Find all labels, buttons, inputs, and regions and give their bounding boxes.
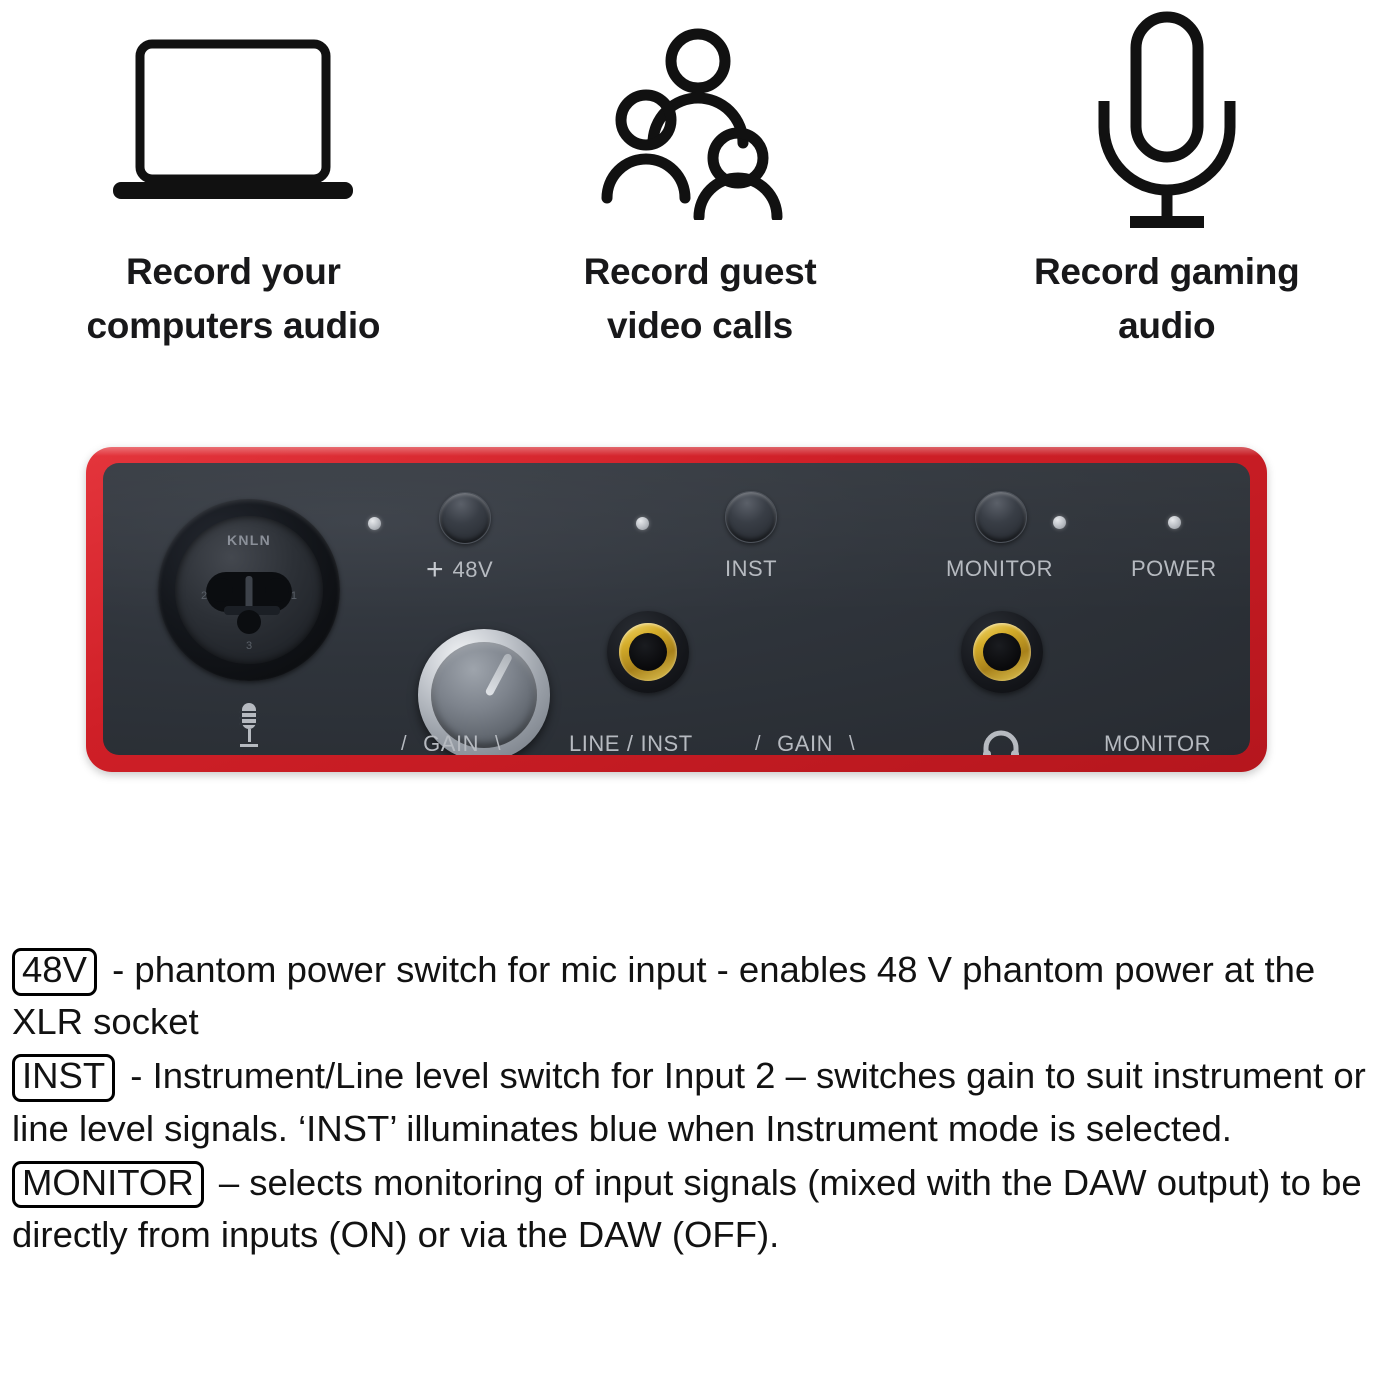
feature-caption-line1: Record guest xyxy=(584,245,817,299)
feature-record-guest-video-calls: Record guest video calls xyxy=(467,0,934,352)
microphone-icon xyxy=(1074,0,1259,245)
line-inst-separator: / xyxy=(627,731,634,755)
headphone-jack-gold-ring xyxy=(973,623,1031,681)
headphone-output-jack[interactable] xyxy=(961,611,1043,693)
line-inst-jack-gold-ring xyxy=(619,623,677,681)
gain2-label: GAIN xyxy=(777,731,833,755)
gain1-label: GAIN xyxy=(423,731,479,755)
line-inst-jack-hole xyxy=(629,633,667,671)
feature-caption-line2: computers audio xyxy=(87,299,381,353)
gain1-label-group: / GAIN \ xyxy=(401,731,501,755)
gain1-tick-left: / xyxy=(401,733,407,756)
feature-caption-line2: audio xyxy=(1034,299,1299,353)
inst-label: INST xyxy=(725,556,777,582)
mic-rib xyxy=(239,723,259,725)
line-inst-label-group: LINE / INST xyxy=(569,731,693,755)
led-indicator-power xyxy=(1168,516,1181,529)
tag-48v: 48V xyxy=(12,948,97,996)
description-text-inst: - Instrument/Line level switch for Input… xyxy=(12,1055,1366,1148)
phantom-power-48v-button[interactable] xyxy=(439,492,491,544)
description-item-monitor: MONITOR – selects monitoring of input si… xyxy=(12,1157,1388,1261)
mic-base xyxy=(240,744,258,747)
feature-row: Record your computers audio Record guest… xyxy=(0,0,1400,430)
feature-caption: Record gaming audio xyxy=(1034,245,1299,352)
monitor-switch-button[interactable] xyxy=(975,491,1027,543)
mic-rib xyxy=(239,711,259,713)
headphone-icon xyxy=(980,728,1022,755)
feature-caption-line1: Record gaming xyxy=(1034,245,1299,299)
description-item-inst: INST - Instrument/Line level switch for … xyxy=(12,1050,1388,1154)
feature-caption: Record your computers audio xyxy=(87,245,381,352)
people-group-icon xyxy=(593,0,808,245)
mic-capsule xyxy=(242,703,256,729)
xlr-combo-input-jack[interactable]: KNLN 1 2 3 xyxy=(158,499,340,681)
line-label: LINE xyxy=(569,731,620,755)
mic-rib xyxy=(239,717,259,719)
power-label: POWER xyxy=(1131,556,1217,582)
xlr-pin-1 xyxy=(209,578,233,602)
feature-record-gaming-audio: Record gaming audio xyxy=(933,0,1400,352)
monitor-button-label: MONITOR xyxy=(946,556,1053,582)
feature-description-list: 48V - phantom power switch for mic input… xyxy=(12,944,1388,1263)
device-front-panel: KNLN 1 2 3 xyxy=(103,463,1250,755)
xlr-pin-2 xyxy=(265,578,289,602)
description-text-48v: - phantom power switch for mic input - e… xyxy=(12,949,1315,1042)
phantom-power-label: 48V xyxy=(453,557,494,583)
xlr-pin-core xyxy=(203,556,295,638)
gain-knob-input1-pointer xyxy=(484,653,513,697)
description-text-monitor: – selects monitoring of input signals (m… xyxy=(12,1162,1362,1255)
tag-inst: INST xyxy=(12,1054,115,1102)
feature-caption: Record guest video calls xyxy=(584,245,817,352)
gain1-tick-right: \ xyxy=(495,733,501,756)
plus-icon: + xyxy=(426,555,444,585)
microphone-input-icon xyxy=(237,703,261,747)
led-indicator-input2 xyxy=(636,517,649,530)
xlr-pin-number-3: 3 xyxy=(246,640,252,652)
laptop-icon xyxy=(103,0,363,245)
gain2-tick-left: / xyxy=(755,733,761,756)
audio-interface-device: KNLN 1 2 3 xyxy=(86,447,1267,772)
xlr-pin-3 xyxy=(237,610,261,634)
xlr-brand-label: KNLN xyxy=(175,532,323,548)
tag-monitor: MONITOR xyxy=(12,1161,204,1209)
xlr-pin-number-1: 1 xyxy=(291,590,297,602)
xlr-pin-number-2: 2 xyxy=(201,590,207,602)
gain2-tick-right: \ xyxy=(849,733,855,756)
feature-caption-line1: Record your xyxy=(87,245,381,299)
line-inst-input-jack[interactable] xyxy=(607,611,689,693)
led-indicator-monitor xyxy=(1053,516,1066,529)
description-item-48v: 48V - phantom power switch for mic input… xyxy=(12,944,1388,1048)
headphone-jack-hole xyxy=(983,633,1021,671)
feature-caption-line2: video calls xyxy=(584,299,817,353)
feature-record-computer-audio: Record your computers audio xyxy=(0,0,467,352)
gain2-label-group: / GAIN \ xyxy=(755,731,855,755)
phantom-power-label-group: + 48V xyxy=(426,555,493,585)
inst-switch-button[interactable] xyxy=(725,491,777,543)
inst-label-bottom: INST xyxy=(641,731,693,755)
led-indicator-input1 xyxy=(368,517,381,530)
monitor-knob-label: MONITOR xyxy=(1104,731,1211,755)
mic-stem xyxy=(248,729,251,742)
xlr-ring: KNLN 1 2 3 xyxy=(175,516,323,664)
